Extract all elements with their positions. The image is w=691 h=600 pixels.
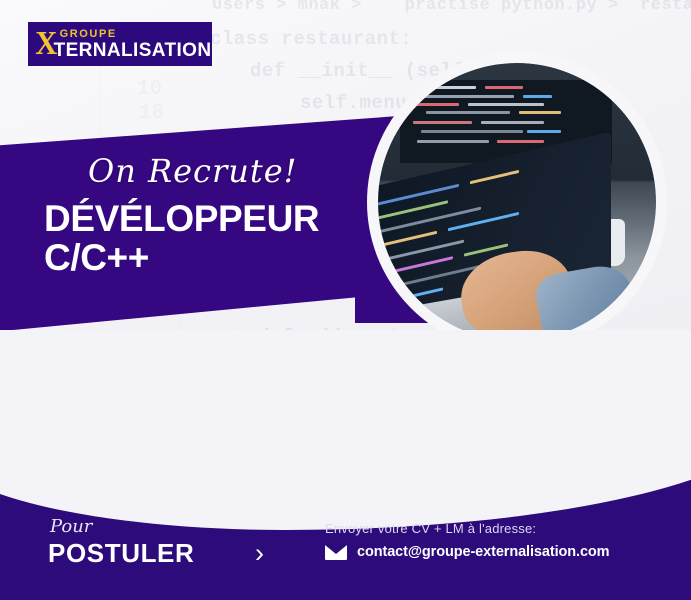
photo-white-ring <box>367 52 667 352</box>
envelope-icon <box>325 545 347 560</box>
code-gutter-top-0: 10 <box>137 78 162 101</box>
contact-block: Envoyer votre CV + LM à l'adresse: conta… <box>325 522 609 560</box>
code-line-0: class restaurant: <box>210 28 412 50</box>
logo-x-letter: X <box>35 27 57 61</box>
job-title-line-2: C/C++ <box>44 239 319 278</box>
email-address-text[interactable]: contact@groupe-externalisation.com <box>357 544 609 560</box>
code-rule-1 <box>100 60 101 150</box>
logo-groupe-text: GROUPE <box>60 29 212 40</box>
apply-block: Pour POSTULER <box>48 518 194 566</box>
code-gutter-top-1: 18 <box>139 102 164 125</box>
job-title-line-1: DÉVÉLOPPEUR <box>44 200 319 239</box>
contact-label-text: Envoyer votre CV + LM à l'adresse: <box>325 522 609 535</box>
logo-wordmark: GROUPE TERNALISATION <box>56 29 212 60</box>
code-breadcrumb: Users > mnak > practise python.py > rest… <box>212 0 691 15</box>
company-logo[interactable]: X GROUPE TERNALISATION <box>28 22 212 66</box>
apply-prefix-text: Pour <box>50 518 194 536</box>
footer-bar: Pour POSTULER › Envoyer votre CV + LM à … <box>0 400 691 600</box>
chevron-right-icon: › <box>255 540 264 567</box>
email-row[interactable]: contact@groupe-externalisation.com <box>325 544 609 560</box>
footer-content: Pour POSTULER › Envoyer votre CV + LM à … <box>0 400 691 600</box>
job-ad-poster: Users > mnak > practise python.py > rest… <box>0 0 691 600</box>
logo-name-text: TERNALISATION <box>54 41 212 60</box>
headline-block: On Recrute! DÉVÉLOPPEUR C/C++ <box>44 152 319 278</box>
apply-word-text: POSTULER <box>48 540 194 566</box>
recruiting-script-text: On Recrute! <box>88 152 319 190</box>
